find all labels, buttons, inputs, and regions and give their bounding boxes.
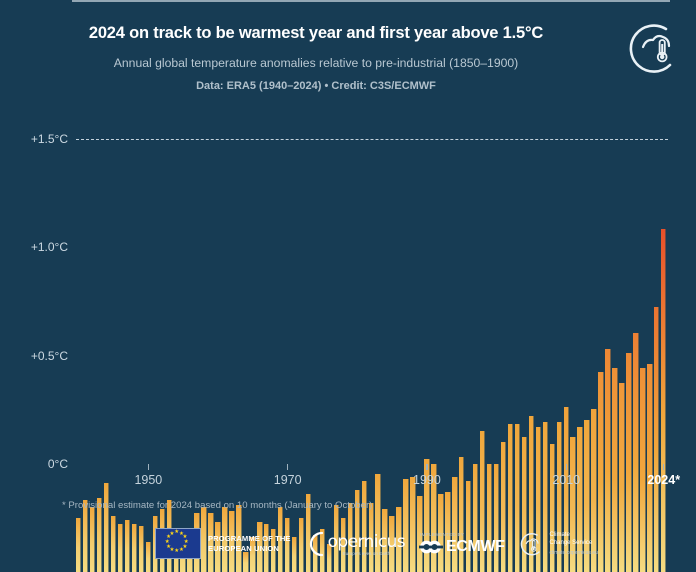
eu-programme-label: PROGRAMME OF THE EUROPEAN UNION <box>208 534 291 553</box>
x-tick-mark <box>663 464 664 470</box>
climate-infographic: 2024 on track to be warmest year and fir… <box>0 0 696 572</box>
bar <box>661 229 666 572</box>
x-tick-label: 2010 <box>552 473 580 487</box>
x-tick-label: 1990 <box>413 473 441 487</box>
y-tick-label: 0°C <box>48 457 68 471</box>
eu-star-icon: ★ <box>166 545 171 550</box>
c3s-cloud-thermometer-icon <box>518 531 544 557</box>
y-tick-label: +0.5°C <box>31 349 68 363</box>
eu-programme-logo: ★★★★★★★★★★★★ PROGRAMME OF THE EUROPEAN U… <box>155 528 291 559</box>
threshold-line-1p5 <box>76 139 668 140</box>
x-tick-mark <box>426 464 427 470</box>
page-title: 2024 on track to be warmest year and fir… <box>36 24 596 43</box>
x-tick-label: 2024* <box>647 473 680 487</box>
copernicus-c-icon <box>305 529 325 559</box>
eu-star-icon: ★ <box>174 549 179 554</box>
x-axis: 19501970199020102024* <box>0 464 696 498</box>
implemented-by-label: IMPLEMENTED BY <box>420 532 504 537</box>
ecmwf-wordmark: ECMWF <box>446 538 504 556</box>
page-subtitle: Annual global temperature anomalies rela… <box>36 56 596 70</box>
c3s-line2: Change Service <box>549 539 597 547</box>
data-credit: Data: ERA5 (1940–2024) • Credit: C3S/ECM… <box>36 80 596 92</box>
c3s-url: climate.copernicus.eu <box>549 549 597 557</box>
copernicus-logo: opernicus Europe's eyes on Earth <box>305 529 405 559</box>
ecmwf-logo: IMPLEMENTED BY ECMWF <box>419 532 504 556</box>
eu-star-icon: ★ <box>179 548 184 553</box>
x-tick-mark <box>566 464 567 470</box>
eu-star-icon: ★ <box>165 540 170 545</box>
header: 2024 on track to be warmest year and fir… <box>0 0 696 108</box>
y-tick-label: +1.0°C <box>31 240 68 254</box>
c3s-logo: Climate Change Service climate.copernicu… <box>518 531 597 557</box>
ecmwf-logo-icon <box>419 538 443 556</box>
x-tick-mark <box>287 464 288 470</box>
eu-programme-line2: EUROPEAN UNION <box>208 544 291 554</box>
y-axis: 0°C+0.5°C+1.0°C+1.5°C <box>0 115 72 475</box>
x-tick-label: 1950 <box>134 473 162 487</box>
eu-programme-line1: PROGRAMME OF THE <box>208 534 291 544</box>
x-tick-mark <box>148 464 149 470</box>
y-tick-label: +1.5°C <box>31 132 68 146</box>
copernicus-wordmark: opernicus <box>328 532 405 552</box>
eu-star-icon: ★ <box>170 532 175 537</box>
footnote: * Provisional estimate for 2024 based on… <box>62 500 372 511</box>
bar-series <box>76 223 668 572</box>
x-tick-label: 1970 <box>274 473 302 487</box>
eu-flag-icon: ★★★★★★★★★★★★ <box>155 528 201 559</box>
c3s-line1: Climate <box>549 531 597 539</box>
cloud-thermometer-icon <box>626 20 682 76</box>
footer-logos: ★★★★★★★★★★★★ PROGRAMME OF THE EUROPEAN U… <box>0 524 696 572</box>
